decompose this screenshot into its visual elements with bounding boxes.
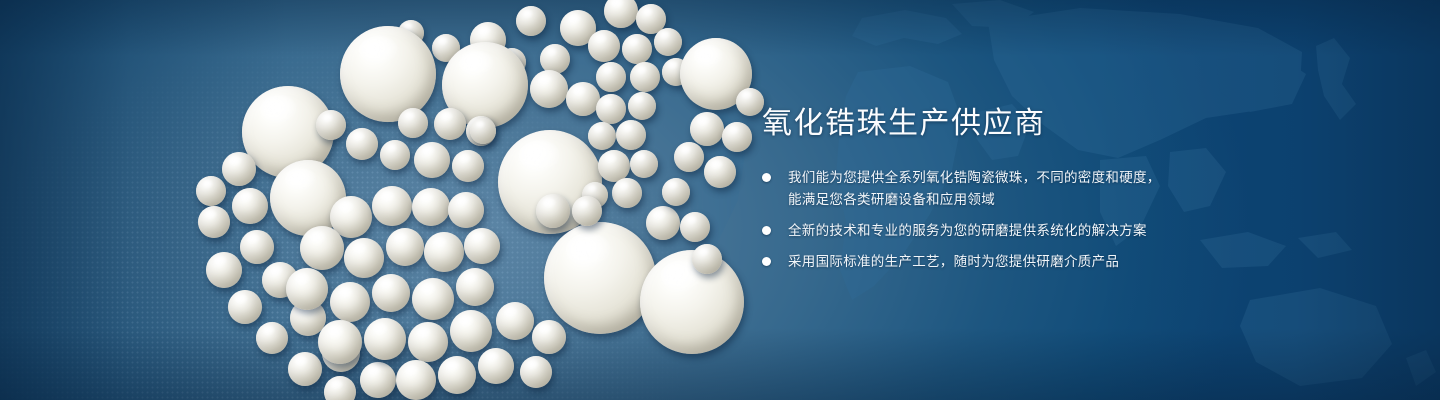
list-item: 采用国际标准的生产工艺，随时为您提供研磨介质产品: [762, 251, 1222, 273]
list-item: 我们能为您提供全系列氧化锆陶瓷微珠，不同的密度和硬度， 能满足您各类研磨设备和应…: [762, 167, 1222, 211]
bullet-line-1: 我们能为您提供全系列氧化锆陶瓷微珠，不同的密度和硬度，: [788, 170, 1161, 185]
bullet-line-2: 能满足您各类研磨设备和应用领域: [788, 189, 1222, 211]
feature-bullet-list: 我们能为您提供全系列氧化锆陶瓷微珠，不同的密度和硬度， 能满足您各类研磨设备和应…: [762, 167, 1222, 273]
bullet-dot-icon: [762, 226, 771, 235]
page-title: 氧化锆珠生产供应商: [762, 104, 1222, 144]
list-item: 全新的技术和专业的服务为您的研磨提供系统化的解决方案: [762, 220, 1222, 242]
banner-copy: 氧化锆珠生产供应商 我们能为您提供全系列氧化锆陶瓷微珠，不同的密度和硬度， 能满…: [762, 104, 1222, 273]
bullet-dot-icon: [762, 257, 771, 266]
hero-banner: 氧化锆珠生产供应商 我们能为您提供全系列氧化锆陶瓷微珠，不同的密度和硬度， 能满…: [0, 0, 1440, 400]
zirconia-bead-cluster-image: [0, 0, 760, 400]
bullet-dot-icon: [762, 173, 771, 182]
bullet-line-1: 采用国际标准的生产工艺，随时为您提供研磨介质产品: [788, 254, 1119, 269]
bullet-line-1: 全新的技术和专业的服务为您的研磨提供系统化的解决方案: [788, 223, 1147, 238]
